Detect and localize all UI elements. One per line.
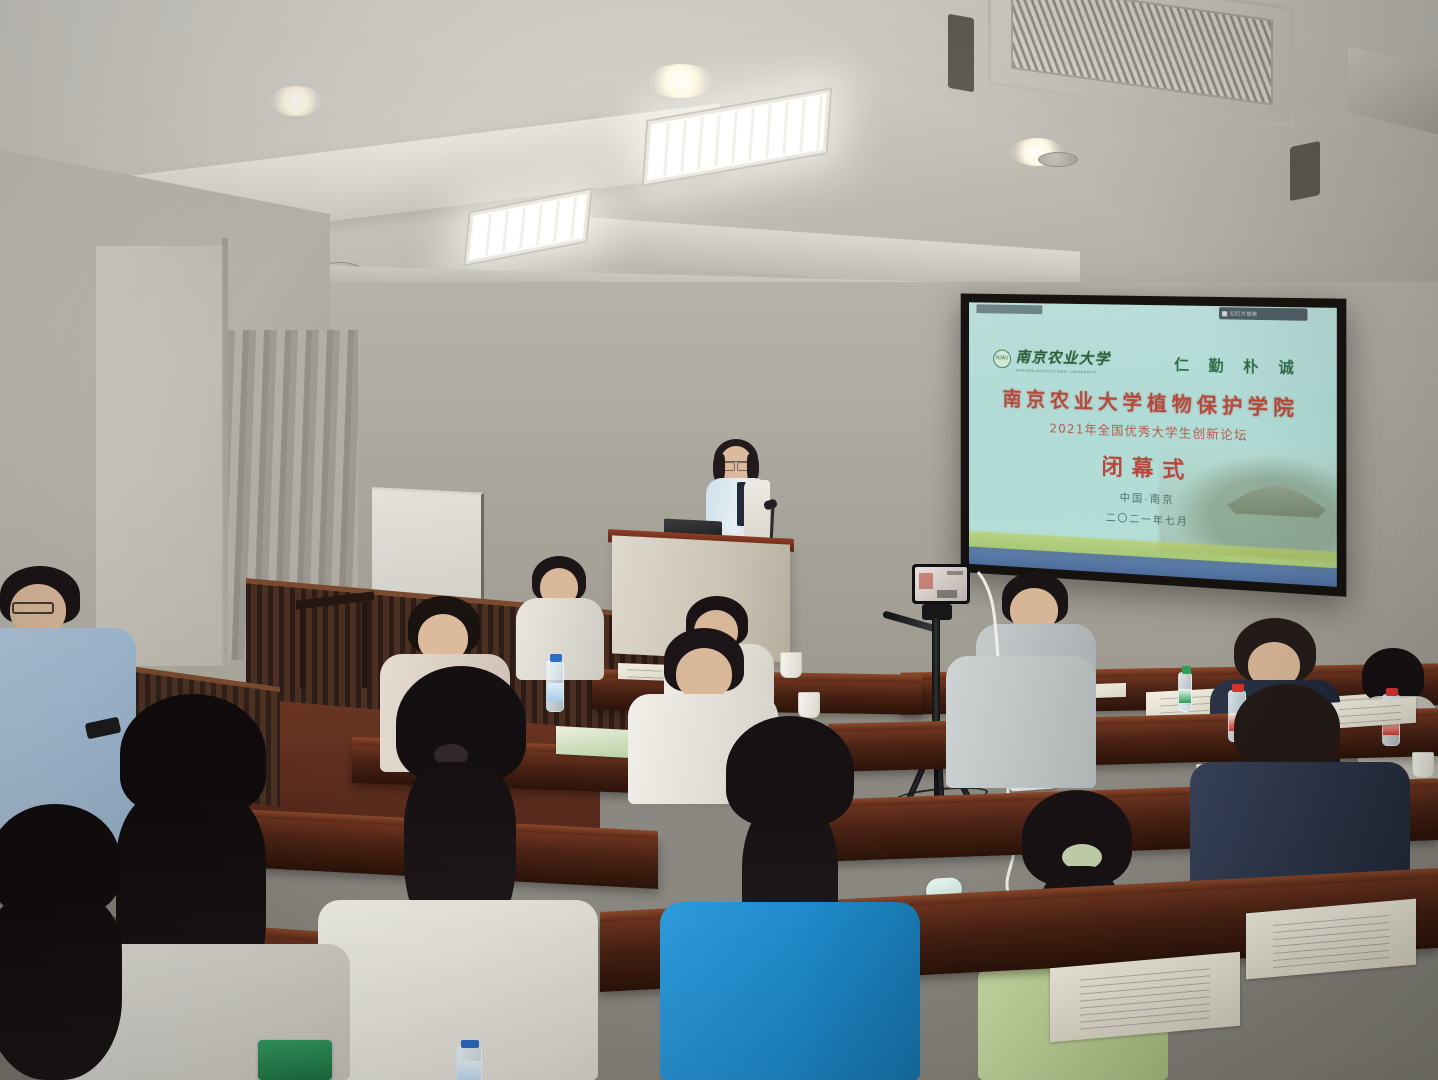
phone-screen-block — [937, 590, 957, 598]
audience-member-foreground-white — [318, 666, 598, 1080]
smartphone-recording[interactable] — [912, 564, 970, 604]
ceiling-speaker — [948, 14, 974, 93]
phone-status-bar — [947, 571, 963, 575]
phone-screen-content — [919, 573, 933, 589]
slide-top-strip — [976, 304, 1042, 314]
bottle-cap — [1182, 666, 1191, 674]
paper-cup — [1412, 752, 1434, 778]
head — [676, 648, 732, 700]
audience-member-foreground-blue — [660, 716, 920, 1080]
ceiling-speaker — [1290, 141, 1320, 201]
slide-motto: 仁 勤 朴 诚 — [1174, 354, 1301, 379]
green-item — [258, 1040, 332, 1080]
glasses-icon — [722, 461, 750, 468]
torso — [946, 656, 1096, 788]
downlight-icon — [270, 86, 322, 116]
side-table-leg — [300, 602, 305, 688]
photo-scene: 幻灯片放映 NJAU 南京农业大学 NANJING AGRICULTURAL U… — [0, 0, 1438, 1080]
torso — [660, 902, 920, 1080]
hair-bun — [1234, 684, 1340, 770]
paper-cup — [780, 652, 802, 678]
presenter-icon — [1222, 311, 1227, 316]
slide-logo-english: NANJING AGRICULTURAL UNIVERSITY — [1016, 368, 1111, 375]
ceiling-air-conditioner — [988, 0, 1294, 128]
downlight-icon — [648, 64, 714, 98]
slide-surface: 幻灯片放映 NJAU 南京农业大学 NANJING AGRICULTURAL U… — [969, 302, 1337, 587]
ceiling-panel-light — [642, 87, 833, 187]
glasses-icon — [12, 602, 54, 614]
water-bottle — [456, 1046, 482, 1080]
ceiling-projector — [1348, 46, 1438, 136]
ac-grille — [1011, 0, 1273, 106]
audience-member-foreground-far-left — [0, 804, 180, 1080]
slide-university-logo: NJAU 南京农业大学 NANJING AGRICULTURAL UNIVERS… — [993, 345, 1110, 375]
document — [1050, 952, 1240, 1043]
bottle-cap — [550, 654, 562, 662]
audience-member — [946, 636, 1096, 788]
projection-screen: 幻灯片放映 NJAU 南京农业大学 NANJING AGRICULTURAL U… — [961, 293, 1347, 596]
presenter-label: 幻灯片放映 — [1230, 310, 1257, 318]
bottle-label — [457, 1061, 481, 1080]
university-seal-icon: NJAU — [993, 349, 1011, 368]
document — [1246, 899, 1416, 980]
bottle-cap — [461, 1040, 479, 1048]
presenter-control-bar[interactable]: 幻灯片放映 — [1219, 307, 1307, 321]
recessed-fixture — [1038, 152, 1078, 167]
long-hair — [0, 896, 122, 1080]
paper-cup — [798, 692, 820, 718]
projector-arm — [1290, 97, 1350, 126]
phone-screen — [915, 567, 967, 601]
slide-logo-chinese: 南京农业大学 — [1016, 348, 1111, 368]
